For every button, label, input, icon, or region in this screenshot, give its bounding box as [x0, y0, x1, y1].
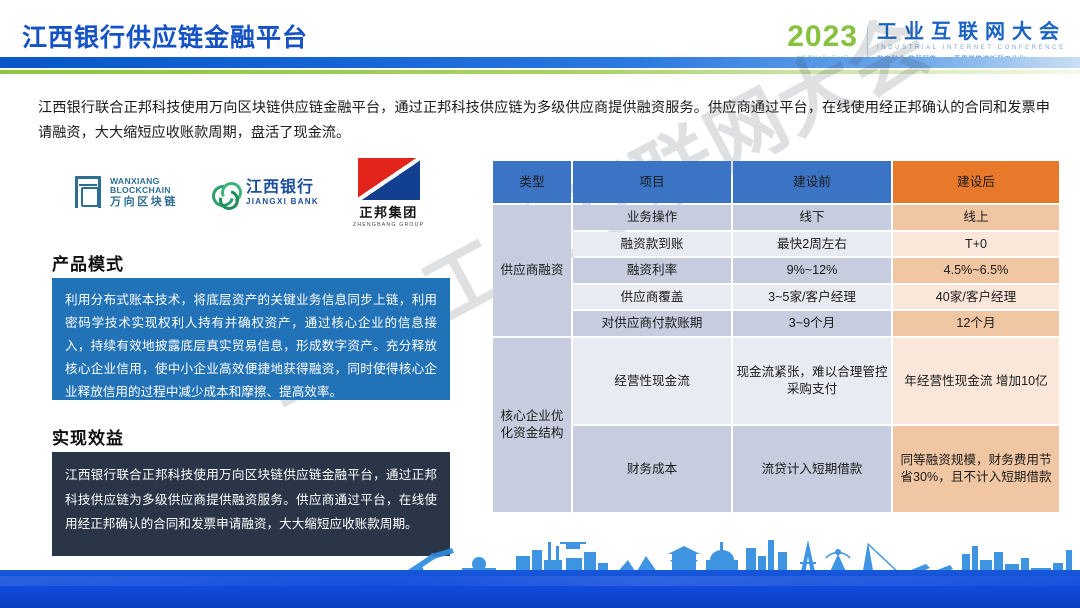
wanxiang-en-line2: BLOCKCHAIN	[110, 186, 178, 195]
group-type-core-enterprise: 核心企业优化资金结构	[493, 338, 571, 512]
panel-body-realized-benefit: 江西银行联合正邦科技使用万向区块链供应链金融平台，通过正邦科技供应链为多级供应商…	[52, 452, 450, 556]
cell-before: 流贷计入短期借款	[733, 426, 891, 512]
cell-item: 经营性现金流	[573, 338, 731, 424]
jiangxi-bank-mark-icon	[212, 180, 240, 206]
cell-before: 9%~12%	[733, 258, 891, 283]
wanxiang-mark-icon	[72, 176, 104, 210]
cell-after: 12个月	[893, 311, 1059, 336]
page-title: 江西银行供应链金融平台	[22, 18, 308, 54]
lead-paragraph: 江西银行联合正邦科技使用万向区块链供应链金融平台，通过正邦科技供应链为多级供应商…	[38, 96, 1050, 146]
zhengbang-en: ZHENGBANG GROUP	[353, 222, 424, 228]
cell-before: 现金流紧张，难以合理管控采购支付	[733, 338, 891, 424]
cell-item: 财务成本	[573, 426, 731, 512]
header-blue-bar	[0, 57, 1080, 68]
comparison-table: 类型 项目 建设前 建设后 供应商融资 业务操作 线下 线上 融资款到账 最快2…	[491, 159, 1061, 514]
table-row: 财务成本 流贷计入短期借款 同等融资规模，财务费用节省30%，且不计入短期借款	[493, 426, 1059, 512]
zhengbang-mark-icon	[358, 158, 420, 200]
table-row: 对供应商付款账期 3~9个月 12个月	[493, 311, 1059, 336]
logo-wanxiang-blockchain: WANXIANG BLOCKCHAIN 万向区块链	[72, 176, 178, 210]
logo-zhengbang-group: 正邦集团 ZHENGBANG GROUP	[353, 158, 424, 228]
cell-after: 线上	[893, 205, 1059, 230]
conference-year-block: 2023 中国·贵州 5月11日-13日	[787, 22, 858, 61]
col-header-type: 类型	[493, 161, 571, 203]
cell-after: 4.5%~6.5%	[893, 258, 1059, 283]
wanxiang-cn: 万向区块链	[110, 197, 178, 209]
panel-body-product-mode: 利用分布式账本技术，将底层资产的关键业务信息同步上链，利用密码学技术实现权利人持…	[52, 278, 450, 400]
footer-water-band	[0, 570, 1080, 608]
panel-heading-product-mode: 产品模式	[52, 250, 124, 275]
table-row: 融资利率 9%~12% 4.5%~6.5%	[493, 258, 1059, 283]
table-row: 供应商融资 业务操作 线下 线上	[493, 205, 1059, 230]
cell-after: 同等融资规模，财务费用节省30%，且不计入短期借款	[893, 426, 1059, 512]
conference-name-en: INDUSTRIAL INTERNET CONFERENCE	[877, 45, 1066, 51]
table-row: 融资款到账 最快2周左右 T+0	[493, 232, 1059, 257]
col-header-after: 建设后	[893, 161, 1059, 203]
cell-before: 3~9个月	[733, 311, 891, 336]
col-header-before: 建设前	[733, 161, 891, 203]
jiangxi-bank-en: JIANGXI BANK	[246, 198, 319, 206]
cell-item: 业务操作	[573, 205, 731, 230]
jiangxi-bank-cn: 江西银行	[246, 180, 319, 197]
cell-before: 最快2周左右	[733, 232, 891, 257]
cell-item: 对供应商付款账期	[573, 311, 731, 336]
table-row: 核心企业优化资金结构 经营性现金流 现金流紧张，难以合理管控采购支付 年经营性现…	[493, 338, 1059, 424]
slide-root: 江西银行供应链金融平台 2023 中国·贵州 5月11日-13日 工业互联网大会…	[0, 0, 1080, 608]
cell-before: 3~5家/客户经理	[733, 285, 891, 310]
panel-heading-realized-benefit: 实现效益	[52, 424, 124, 449]
group-type-supplier-financing: 供应商融资	[493, 205, 571, 336]
cell-item: 供应商覆盖	[573, 285, 731, 310]
cell-before: 线下	[733, 205, 891, 230]
table-header-row: 类型 项目 建设前 建设后	[493, 161, 1059, 203]
partner-logo-strip: WANXIANG BLOCKCHAIN 万向区块链 江西银行 JIANGXI B…	[72, 160, 472, 226]
zhengbang-cn: 正邦集团	[359, 202, 417, 221]
header-green-line	[0, 70, 1080, 74]
table-row: 供应商覆盖 3~5家/客户经理 40家/客户经理	[493, 285, 1059, 310]
logo-jiangxi-bank: 江西银行 JIANGXI BANK	[212, 180, 319, 206]
col-header-item: 项目	[573, 161, 731, 203]
cell-after: T+0	[893, 232, 1059, 257]
cell-after: 年经营性现金流 增加10亿	[893, 338, 1059, 424]
conference-name-cn: 工业互联网大会	[877, 22, 1066, 43]
cell-item: 融资利率	[573, 258, 731, 283]
cell-item: 融资款到账	[573, 232, 731, 257]
cell-after: 40家/客户经理	[893, 285, 1059, 310]
conference-year: 2023	[787, 23, 858, 52]
